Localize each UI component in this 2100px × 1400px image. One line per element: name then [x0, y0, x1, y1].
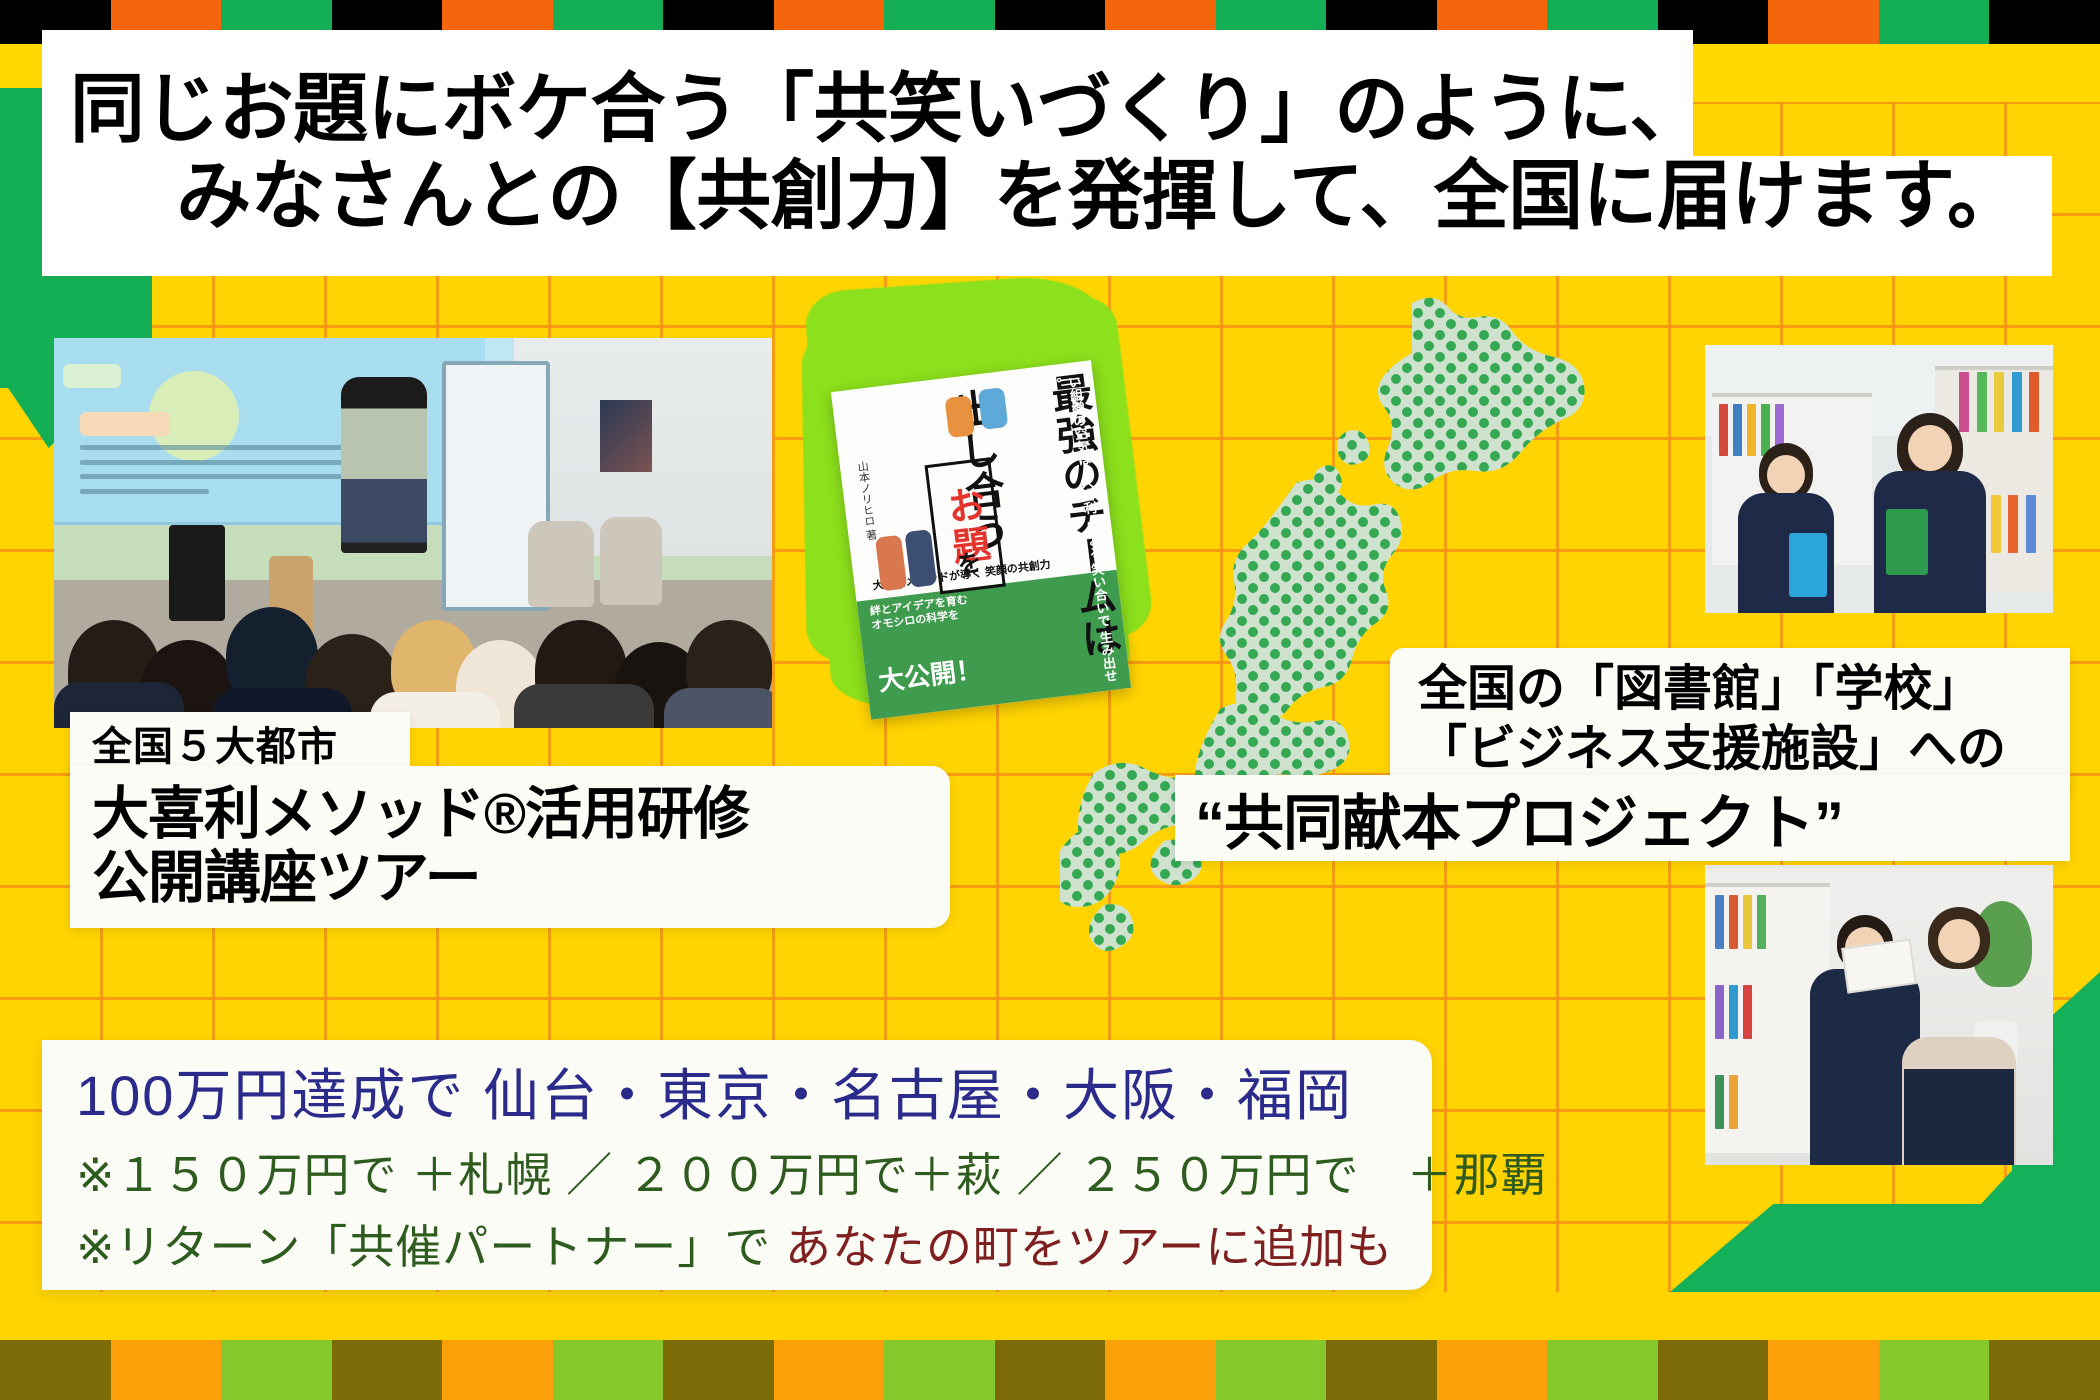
caption-left-line-2: 公開講座ツアー [92, 847, 481, 911]
book-cover: 最強のチームは 出し合う お題 を 山本ノリヒロ 著 大喜利メソッドが導く 笑顔… [831, 360, 1131, 719]
bottom-stripe-bar [0, 1340, 2100, 1400]
goal-return-label: ※リターン「共催パートナー」で [76, 1221, 771, 1273]
stripe-segment [1768, 1340, 1879, 1400]
poster-canvas: 最強のチームは 出し合う お題 を 山本ノリヒロ 著 大喜利メソッドが導く 笑顔… [0, 0, 2100, 1400]
book-figure-2 [978, 387, 1009, 430]
stripe-segment [663, 1340, 774, 1400]
stripe-segment [0, 1340, 111, 1400]
caption-left-main: 大喜利メソッド®活用研修 公開講座ツアー [70, 766, 950, 928]
bottom-yellow-band [0, 1292, 2100, 1340]
stripe-segment [1216, 1340, 1327, 1400]
stripe-segment [995, 1340, 1106, 1400]
goal-line-stretch: ※１５０万円で ＋札幌 ／ ２００万円で＋萩 ／ ２５０万円で ＋那覇 [76, 1152, 1432, 1198]
caption-right-main: 全国の「図書館」「学校」 「ビジネス支援施設」への [1390, 648, 2070, 792]
stripe-segment [1547, 1340, 1658, 1400]
photo-seminar [54, 338, 772, 728]
book-figure-1 [944, 395, 975, 438]
caption-left-line-1: 大喜利メソッド®活用研修 [92, 783, 749, 847]
stripe-segment [1326, 1340, 1437, 1400]
stripe-segment [774, 1340, 885, 1400]
stripe-segment [1989, 1340, 2100, 1400]
stripe-segment [221, 1340, 332, 1400]
stripe-segment [332, 1340, 443, 1400]
title-line-2: みなさんとの【共創力】を発揮して、全国に届けます。 [70, 157, 1997, 238]
stripe-segment [442, 1340, 553, 1400]
caption-right-project: “共同献本プロジェクト” [1175, 775, 2070, 861]
stripe-segment [1437, 1340, 1548, 1400]
stripe-segment [884, 1340, 995, 1400]
goal-return-value: あなたの町をツアーに追加も [785, 1221, 1393, 1273]
stripe-segment [553, 1340, 664, 1400]
stripe-segment [1879, 0, 1990, 44]
photo-students-library [1705, 345, 2053, 613]
photo-business-library [1705, 865, 2053, 1165]
stripe-segment [1768, 0, 1879, 44]
caption-right-line-2: 「ビジネス支援施設」への [1418, 720, 2006, 780]
stripe-segment [1989, 0, 2100, 44]
caption-left-eyebrow: 全国５大都市 [70, 712, 410, 774]
stripe-segment [1105, 1340, 1216, 1400]
funding-goals-panel: 100万円達成で 仙台・東京・名古屋・大阪・福岡 ※１５０万円で ＋札幌 ／ ２… [42, 1040, 1432, 1290]
goal-line-primary: 100万円達成で 仙台・東京・名古屋・大阪・福岡 [76, 1068, 1432, 1124]
stripe-segment [111, 1340, 222, 1400]
caption-right-line-1: 全国の「図書館」「学校」 [1418, 660, 1982, 720]
stripe-segment [1879, 1340, 1990, 1400]
stripe-segment [1658, 1340, 1769, 1400]
goal-line-return: ※リターン「共催パートナー」で あなたの町をツアーに追加も [76, 1224, 1432, 1270]
